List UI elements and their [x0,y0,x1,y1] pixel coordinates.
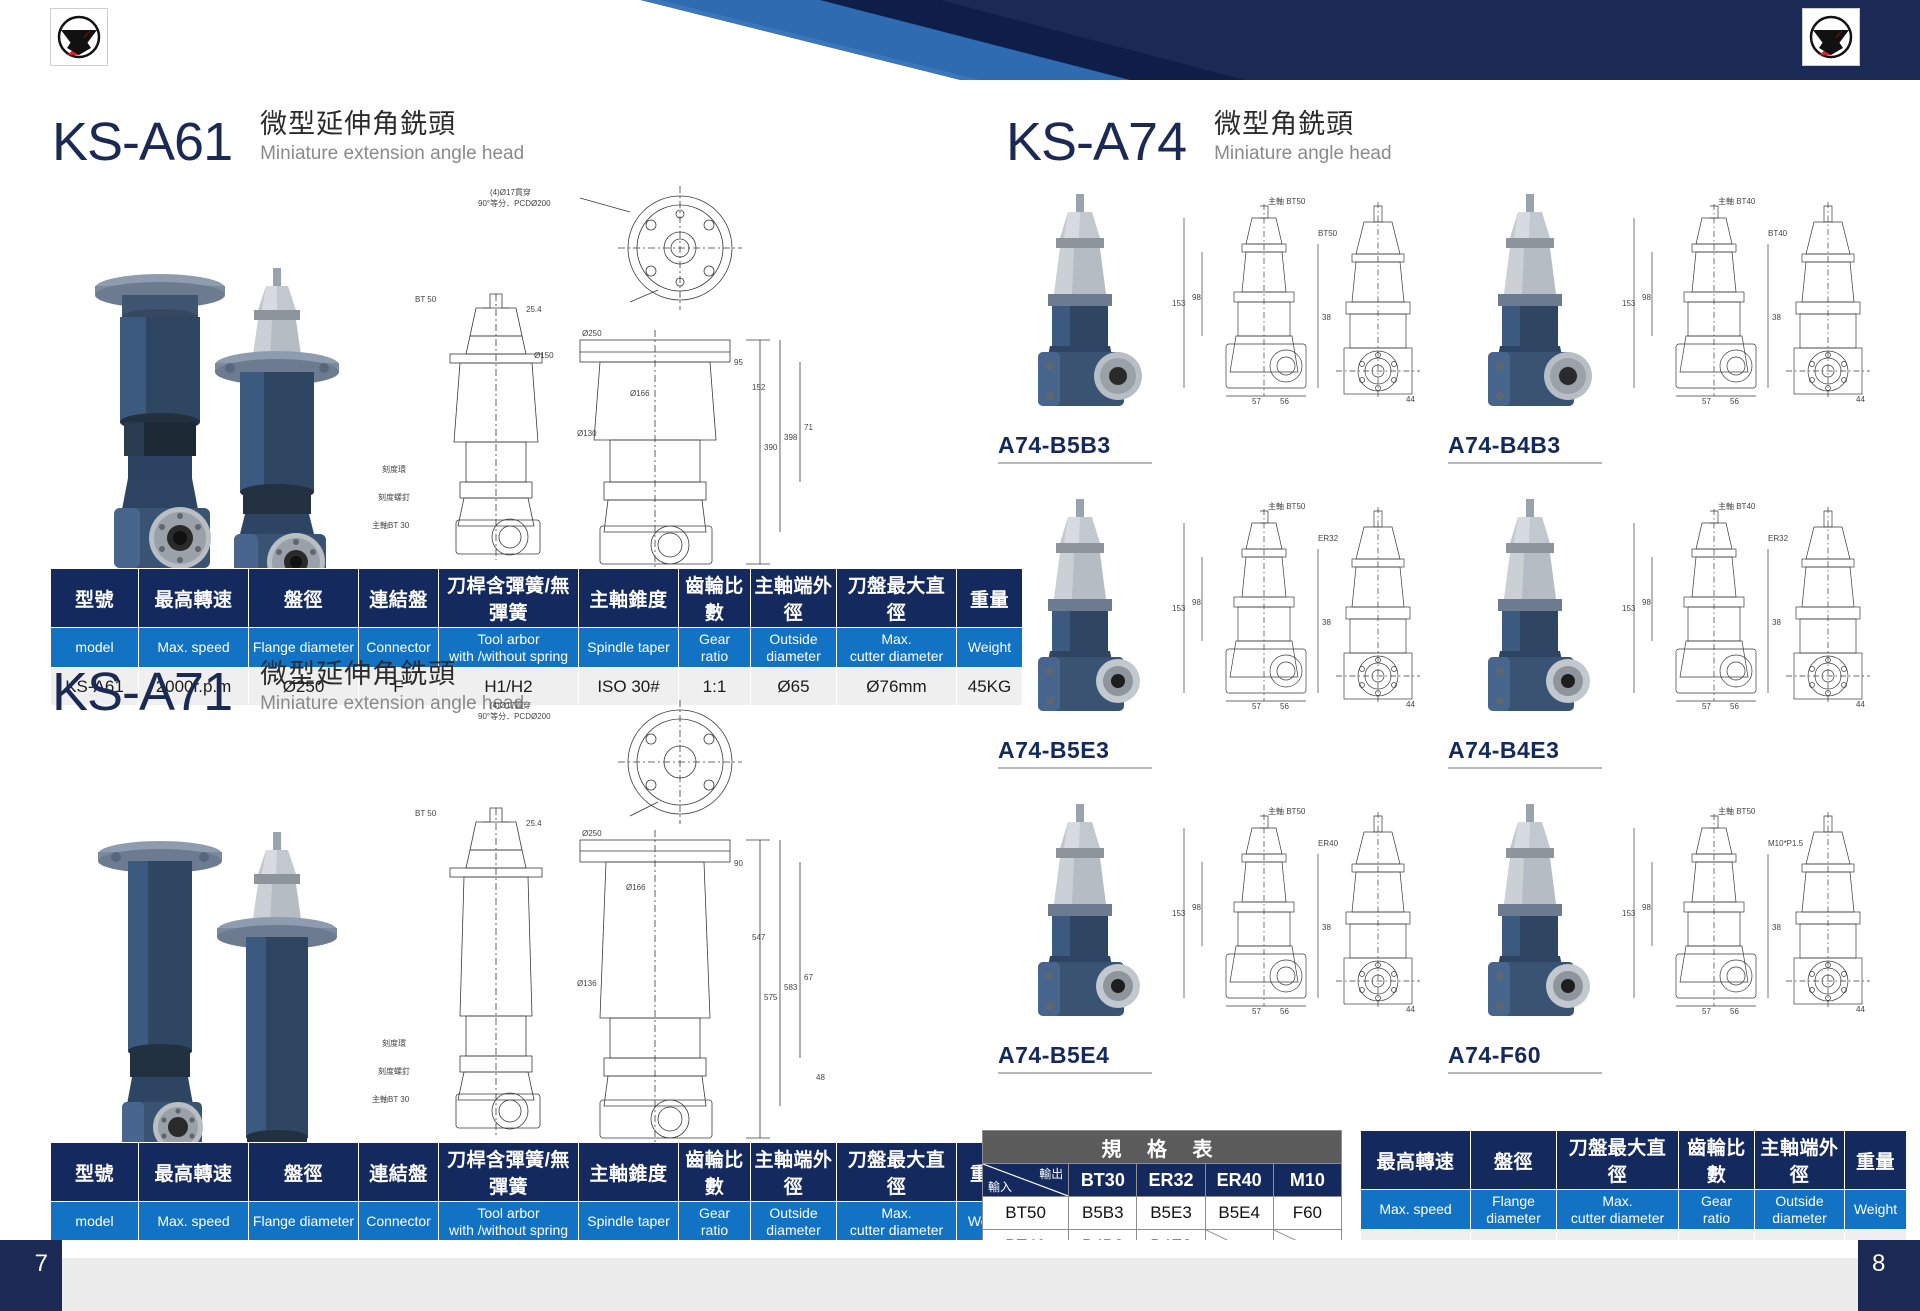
svg-text:153: 153 [1172,604,1186,613]
table-header-en-6: Gearratio [679,1202,751,1242]
drawing-dim-d166: Ø166 [630,389,650,398]
variant-photo-svg [1440,190,1620,420]
matrix-col-header-1: ER32 [1137,1164,1205,1197]
table-header-cn-4: 刀桿含彈簧/無彈簧 [439,1143,579,1202]
matrix-output-label: 輸出 [1039,1165,1063,1182]
drawing-note-pcd: 90°等分．PCDØ200 [478,198,551,208]
variant-face-drawing: 44 [1770,501,1890,711]
svg-text:44: 44 [1856,1005,1865,1014]
page-footer: 7 8 [0,1240,1920,1311]
variant-face-drawing-svg: 44 [1770,501,1890,711]
product-name-cn: 微型延伸角銑頭 [260,108,524,142]
drawing-note-scale-ring: 刻度環 [382,1038,406,1048]
svg-text:153: 153 [1172,299,1186,308]
drawing-note-spindle: 主軸BT 30 [372,1094,410,1104]
variant-caption-a74-b5e3: A74-B5E3 [998,737,1126,769]
variant-face-drawing: 44 [1770,806,1890,1016]
table-header-cn-0: 型號 [51,1143,139,1202]
table-header-row-cn: 最高轉速盤徑刀盤最大直徑齒輪比數主軸端外徑重量 [1361,1131,1907,1190]
product-name-en: Miniature angle head [1214,142,1391,166]
drawing-note-scale-screw: 刻度螺釘 [378,492,410,502]
svg-text:547: 547 [752,933,766,942]
drawing-dim-d166: Ø166 [626,883,646,892]
variant-caption-a74-f60: A74-F60 [1448,1042,1576,1074]
model-code: KS-A71 [52,665,232,719]
svg-text:56: 56 [1280,1007,1289,1016]
table-header-cn-5: 主軸錐度 [579,1143,679,1202]
svg-text:主軸 BT50: 主軸 BT50 [1268,196,1306,206]
table-header-en-1: Max. speed [139,1202,249,1242]
svg-text:57: 57 [1702,397,1711,406]
variant-photo [1440,495,1620,725]
table-header-en-2: Flange diameter [249,1202,359,1242]
variant-photo [1440,800,1620,1030]
svg-text:98: 98 [1642,903,1651,912]
drawing-dim-d136: Ø136 [577,979,597,988]
matrix-corner-cell: 輸出輸入 [983,1164,1069,1197]
variant-block-a74-f60: 15398575638主軸 BT50M10*P1.544A74-F60 [1440,800,1890,1100]
table-header-en-7: Outsidediameter [751,628,837,668]
svg-text:57: 57 [1252,397,1261,406]
table-header-cn-0: 型號 [51,569,139,628]
svg-text:98: 98 [1192,293,1201,302]
table-header-cn-1: 最高轉速 [139,569,249,628]
svg-text:57: 57 [1252,702,1261,711]
technical-drawing-ks-a71: (4)Ø17貫穿 90°等分．PCDØ200 25.4 [430,780,920,1180]
svg-text:44: 44 [1856,700,1865,709]
product-title-ks-a74: KS-A74 微型角銑頭 Miniature angle head [1006,108,1392,169]
svg-text:57: 57 [1702,1007,1711,1016]
variant-photo-svg [990,495,1170,725]
drawing-label-bt50: BT 50 [415,295,437,304]
variant-caption-a74-b5e4: A74-B5E4 [998,1042,1126,1074]
product-name-cn: 微型角銑頭 [1214,108,1391,142]
table-header-en-5: Spindle taper [579,1202,679,1242]
svg-text:90: 90 [734,859,743,868]
variant-photo [1440,190,1620,420]
matrix-cell-0-3: F60 [1273,1197,1341,1230]
variant-face-drawing: 44 [1320,196,1440,406]
table-header-cn-5: 重量 [1845,1131,1907,1190]
model-code: KS-A74 [1006,115,1186,169]
svg-text:56: 56 [1280,397,1289,406]
svg-text:98: 98 [1642,293,1651,302]
variant-caption-a74-b4b3: A74-B4B3 [1448,432,1576,464]
matrix-cell-0-0: B5B3 [1069,1197,1137,1230]
drawing-dim-d250: Ø250 [582,829,602,838]
svg-text:57: 57 [1252,1007,1261,1016]
table-header-en-1: Flangediameter [1471,1190,1557,1230]
company-logo [50,8,108,66]
variant-face-drawing-svg: 44 [1320,501,1440,711]
drawing-note-holes: (4)Ø17貫穿 [490,700,531,710]
svg-text:152: 152 [752,383,766,392]
table-cell-7: Ø65 [751,668,837,706]
table-cell-6: 1:1 [679,668,751,706]
drawing-note-spindle: 主軸BT 30 [372,520,410,530]
variant-photo-svg [990,190,1170,420]
table-header-row-cn: 型號最高轉速盤徑連結盤刀桿含彈簧/無彈簧主軸錐度齒輪比數主軸端外徑刀盤最大直徑重… [51,569,1023,628]
svg-text:主軸 BT40: 主軸 BT40 [1718,196,1756,206]
variant-face-drawing-svg: 44 [1770,196,1890,406]
table-header-en-4: Tool arborwith /without spring [439,1202,579,1242]
table-header-cn-2: 盤徑 [249,1143,359,1202]
table-header-en-2: Max.cutter diameter [1557,1190,1679,1230]
table-header-cn-3: 連結盤 [359,1143,439,1202]
table-header-cn-1: 盤徑 [1471,1131,1557,1190]
product-name-en: Miniature extension angle head [260,142,524,166]
company-logo-secondary [1802,8,1860,66]
svg-text:67: 67 [804,973,813,982]
drawing-dim-d150: Ø150 [534,351,554,360]
table-cell-8: Ø76mm [837,668,957,706]
table-header-cn-2: 盤徑 [249,569,359,628]
drawing-note-scale-ring: 刻度環 [382,464,406,474]
table-header-en-8: Max.cutter diameter [837,1202,957,1242]
matrix-title: 規 格 表 [983,1131,1342,1164]
svg-text:56: 56 [1280,702,1289,711]
page-number-left: 7 [0,1240,62,1311]
drawing-dim-d250: Ø250 [582,329,602,338]
variant-caption-a74-b4e3: A74-B4E3 [1448,737,1576,769]
matrix-col-header-2: ER40 [1205,1164,1273,1197]
variant-block-a74-b4b3: 15398575638主軸 BT40BT4044A74-B4B3 [1440,190,1890,490]
table-header-cn-3: 齒輪比數 [1679,1131,1755,1190]
drawing-note-holes: (4)Ø17貫穿 [490,187,531,197]
svg-text:48: 48 [816,1073,825,1082]
table-header-en-8: Max.cutter diameter [837,628,957,668]
svg-text:56: 56 [1730,702,1739,711]
svg-text:主軸 BT40: 主軸 BT40 [1718,501,1756,511]
drawing-note-scale-screw: 刻度螺釘 [378,1066,410,1076]
table-header-en-0: model [51,1202,139,1242]
variant-block-a74-b5b3: 15398575638主軸 BT50BT5044A74-B5B3 [990,190,1440,490]
svg-text:153: 153 [1622,604,1636,613]
table-header-cn-7: 主軸端外徑 [751,1143,837,1202]
svg-text:56: 56 [1730,1007,1739,1016]
svg-text:44: 44 [1406,1005,1415,1014]
drawing-dim-254: 25.4 [526,305,542,314]
variant-face-drawing: 44 [1770,196,1890,406]
variant-block-a74-b5e4: 15398575638主軸 BT50ER4044A74-B5E4 [990,800,1440,1100]
svg-text:57: 57 [1702,702,1711,711]
matrix-title-row: 規 格 表 [983,1131,1342,1164]
variant-block-a74-b4e3: 15398575638主軸 BT40ER3244A74-B4E3 [1440,495,1890,795]
table-header-en-5: Weight [1845,1190,1907,1230]
page-body: KS-A61 微型延伸角銑頭 Miniature extension angle… [0,80,1920,1240]
variant-photo [990,190,1170,420]
matrix-row-header-0: BT50 [983,1197,1069,1230]
model-code: KS-A61 [52,115,232,169]
matrix-cell-0-2: B5E4 [1205,1197,1273,1230]
variant-photo [990,495,1170,725]
svg-text:390: 390 [764,443,778,452]
svg-text:98: 98 [1192,903,1201,912]
svg-text:583: 583 [784,983,798,992]
company-logo-icon [1808,14,1854,60]
svg-text:153: 153 [1172,909,1186,918]
table-header-cn-8: 刀盤最大直徑 [837,569,957,628]
top-banner [0,0,1920,80]
variant-block-a74-b5e3: 15398575638主軸 BT50ER3244A74-B5E3 [990,495,1440,795]
table-header-cn-1: 最高轉速 [139,1143,249,1202]
variant-photo-svg [1440,495,1620,725]
table-header-cn-6: 齒輪比數 [679,569,751,628]
product-photo-ks-a61 [40,190,420,580]
svg-text:71: 71 [804,423,813,432]
svg-text:56: 56 [1730,397,1739,406]
svg-text:主軸 BT50: 主軸 BT50 [1268,806,1306,816]
svg-text:98: 98 [1642,598,1651,607]
drawing-note-pcd: 90°等分．PCDØ200 [478,711,551,721]
matrix-col-header-3: M10 [1273,1164,1341,1197]
table-header-en-6: Gearratio [679,628,751,668]
svg-text:153: 153 [1622,299,1636,308]
table-header-row-en: Max. speedFlangediameterMax.cutter diame… [1361,1190,1907,1230]
svg-text:98: 98 [1192,598,1201,607]
variant-photo-svg [1440,800,1620,1030]
matrix-input-label: 輸入 [988,1178,1012,1195]
variant-photo [990,800,1170,1030]
table-header-en-0: Max. speed [1361,1190,1471,1230]
table-cell-5: ISO 30# [579,668,679,706]
svg-text:95: 95 [734,358,743,367]
table-header-cn-5: 主軸錐度 [579,569,679,628]
svg-text:44: 44 [1406,700,1415,709]
table-header-en-7: Outsidediameter [751,1202,837,1242]
left-page: KS-A61 微型延伸角銑頭 Miniature extension angle… [0,80,960,1240]
table-header-row-cn: 型號最高轉速盤徑連結盤刀桿含彈簧/無彈簧主軸錐度齒輪比數主軸端外徑刀盤最大直徑重… [51,1143,1023,1202]
matrix-header-row: 輸出輸入BT30ER32ER40M10 [983,1164,1342,1197]
footer-strip [0,1258,1920,1311]
table-header-en-3: Connector [359,1202,439,1242]
company-logo-icon [56,14,102,60]
product-name-cn: 微型延伸角銑頭 [260,658,524,692]
product-title-ks-a61: KS-A61 微型延伸角銑頭 Miniature extension angle… [52,108,524,169]
drawing-dim-d130: Ø130 [577,429,597,438]
table-header-row-en: modelMax. speedFlange diameterConnectorT… [51,1202,1023,1242]
table-header-cn-4: 主軸端外徑 [1755,1131,1845,1190]
svg-text:575: 575 [764,993,778,1002]
svg-text:主軸 BT50: 主軸 BT50 [1718,806,1756,816]
table-header-en-5: Spindle taper [579,628,679,668]
table-header-cn-2: 刀盤最大直徑 [1557,1131,1679,1190]
table-header-cn-4: 刀桿含彈簧/無彈簧 [439,569,579,628]
right-page: KS-A74 微型角銑頭 Miniature angle head 153985… [960,80,1920,1240]
table-header-en-4: Outsidediameter [1755,1190,1845,1230]
table-header-cn-8: 刀盤最大直徑 [837,1143,957,1202]
variant-face-drawing-svg: 44 [1770,806,1890,1016]
technical-drawing-ks-a61: (4)Ø17貫穿 90°等分．PCDØ200 25.4 [430,190,920,590]
variant-face-drawing: 44 [1320,806,1440,1016]
table-header-en-3: Gearratio [1679,1190,1755,1230]
svg-text:44: 44 [1406,395,1415,404]
table-header-cn-6: 齒輪比數 [679,1143,751,1202]
table-header-cn-7: 主軸端外徑 [751,569,837,628]
variant-photo-svg [990,800,1170,1030]
page-number-right: 8 [1858,1240,1920,1311]
product-title-ks-a71: KS-A71 微型延伸角銑頭 Miniature extension angle… [52,658,524,719]
variant-face-drawing: 44 [1320,501,1440,711]
variant-face-drawing-svg: 44 [1320,196,1440,406]
drawing-dim-254: 25.4 [526,819,542,828]
table-header-cn-3: 連結盤 [359,569,439,628]
variant-caption-a74-b5b3: A74-B5B3 [998,432,1126,464]
table-header-cn-0: 最高轉速 [1361,1131,1471,1190]
matrix-cell-0-1: B5E3 [1137,1197,1205,1230]
matrix-col-header-0: BT30 [1069,1164,1137,1197]
svg-text:44: 44 [1856,395,1865,404]
drawing-label-bt50: BT 50 [415,809,437,818]
svg-text:主軸 BT50: 主軸 BT50 [1268,501,1306,511]
matrix-row: BT50B5B3B5E3B5E4F60 [983,1197,1342,1230]
svg-text:153: 153 [1622,909,1636,918]
svg-text:398: 398 [784,433,798,442]
variant-face-drawing-svg: 44 [1320,806,1440,1016]
